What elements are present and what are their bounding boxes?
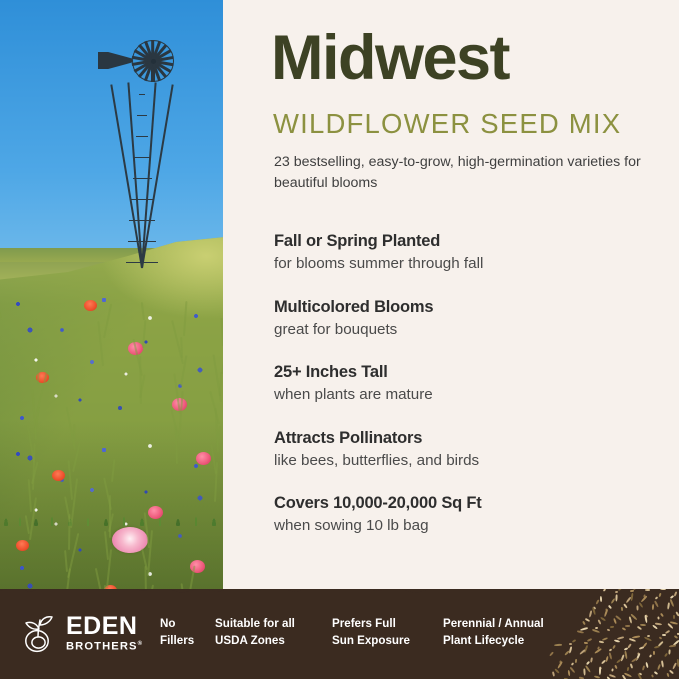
seed	[641, 595, 648, 602]
windmill-rung	[137, 115, 146, 116]
seed	[668, 649, 670, 654]
seed	[611, 668, 613, 671]
windmill-rotor	[130, 38, 176, 84]
seed	[657, 664, 661, 670]
brand-logo[interactable]: EDEN BROTHERS®	[23, 613, 143, 653]
seed	[601, 660, 606, 665]
seed	[554, 644, 562, 647]
seed	[615, 594, 617, 601]
feature-title: Fall or Spring Planted	[274, 230, 664, 252]
seed	[645, 589, 650, 591]
seed	[587, 638, 592, 642]
seed	[639, 602, 644, 608]
seed	[577, 630, 584, 634]
seed	[594, 648, 602, 654]
seed	[674, 635, 678, 639]
feature-subtitle: when sowing 10 lb bag	[274, 515, 664, 536]
page-title: Midwest	[271, 27, 509, 90]
brand-wordmark: EDEN BROTHERS®	[66, 614, 143, 653]
seed	[586, 661, 590, 665]
poppy-flower	[16, 540, 29, 551]
seed	[630, 663, 634, 668]
seed	[669, 644, 676, 647]
seed	[568, 670, 571, 676]
seed	[654, 671, 658, 675]
windmill-rung	[128, 241, 157, 242]
poppy-flower	[196, 452, 211, 465]
seed	[672, 662, 677, 669]
feature-title: Multicolored Blooms	[274, 296, 664, 318]
windmill-rung	[131, 199, 153, 200]
seed	[637, 626, 642, 630]
seed	[608, 605, 612, 609]
seed	[594, 675, 600, 678]
seed	[623, 603, 628, 608]
seed	[667, 602, 670, 609]
seed	[670, 595, 674, 599]
seed	[629, 616, 633, 623]
poppy-flower	[84, 300, 97, 311]
seed	[598, 619, 602, 624]
seed	[651, 674, 654, 678]
seed	[624, 651, 627, 659]
product-photo	[0, 0, 223, 612]
feature-item: Covers 10,000-20,000 Sq Ftwhen sowing 10…	[274, 492, 664, 537]
footer-badge-line1: Suitable for all	[215, 616, 295, 633]
seed	[600, 596, 602, 602]
seed	[627, 667, 630, 671]
seed	[592, 629, 600, 633]
footer-badge: Suitable for allUSDA Zones	[215, 616, 295, 650]
seed	[640, 624, 646, 626]
feature-item: Multicolored Bloomsgreat for bouquets	[274, 296, 664, 341]
product-description: 23 bestselling, easy-to-grow, high-germi…	[274, 152, 644, 195]
windmill-icon	[100, 38, 184, 268]
seed	[569, 643, 572, 645]
seed	[572, 639, 576, 643]
seed	[675, 611, 679, 616]
seed	[610, 626, 614, 628]
seed	[621, 607, 623, 611]
seed	[655, 596, 659, 599]
footer-badge-line1: Perennial / Annual	[443, 616, 544, 633]
seed	[614, 639, 620, 642]
footer-badge: Perennial / AnnualPlant Lifecycle	[443, 616, 544, 650]
seed	[564, 650, 570, 656]
seed	[661, 660, 664, 667]
seed	[557, 661, 563, 669]
brand-subname: BROTHERS®	[66, 641, 143, 653]
windmill-rung	[126, 262, 158, 263]
seed	[615, 615, 622, 621]
poppy-flower	[52, 470, 65, 481]
seed	[654, 600, 659, 607]
seed	[655, 623, 662, 626]
seed	[595, 599, 599, 604]
poppy-flower	[148, 506, 163, 519]
seed	[645, 662, 648, 668]
seed	[614, 665, 618, 669]
footer-badge-line2: Fillers	[160, 633, 194, 650]
seed	[652, 624, 658, 629]
seed	[575, 659, 577, 663]
seed	[589, 610, 593, 617]
seed	[660, 613, 664, 617]
seed	[658, 593, 661, 597]
seed	[609, 652, 613, 659]
seed	[657, 616, 659, 619]
seed	[571, 662, 574, 666]
seed	[609, 648, 613, 651]
windmill-rung	[136, 136, 149, 137]
windmill-rung	[139, 94, 145, 95]
seed	[652, 604, 654, 610]
seed	[670, 599, 675, 607]
footer-badge: Prefers FullSun Exposure	[332, 616, 410, 650]
seed	[653, 651, 655, 655]
seed	[649, 654, 652, 658]
seed	[664, 653, 668, 657]
seed	[611, 598, 616, 604]
seed	[636, 605, 638, 610]
footer-badge-line1: Prefers Full	[332, 616, 410, 633]
feature-item: Fall or Spring Plantedfor blooms summer …	[274, 230, 664, 275]
seed	[662, 634, 666, 636]
seed	[622, 627, 626, 631]
footer-badge-line1: No	[160, 616, 194, 633]
feature-subtitle: for blooms summer through fall	[274, 253, 664, 274]
seed	[654, 645, 660, 648]
brand-name: EDEN	[66, 614, 143, 639]
windmill-rung	[133, 178, 152, 179]
windmill-tower	[100, 80, 184, 268]
seed	[642, 665, 645, 670]
feature-list: Fall or Spring Plantedfor blooms summer …	[274, 230, 664, 558]
windmill-rung	[129, 220, 155, 221]
seed	[673, 615, 675, 619]
seed	[603, 589, 606, 592]
footer-bar: EDEN BROTHERS® NoFillersSuitable for all…	[0, 589, 679, 679]
seed	[644, 636, 652, 641]
windmill-tail-vane	[98, 52, 132, 69]
seed	[629, 638, 636, 642]
feature-item: 25+ Inches Tallwhen plants are mature	[274, 361, 664, 406]
seed	[607, 628, 611, 631]
trademark-symbol: ®	[138, 641, 144, 647]
seed	[569, 667, 575, 674]
footer-badge: NoFillers	[160, 616, 194, 650]
brand-subname-text: BROTHERS	[66, 640, 138, 652]
seed	[625, 625, 630, 627]
feature-subtitle: great for bouquets	[274, 319, 664, 340]
feature-item: Attracts Pollinatorslike bees, butterfli…	[274, 427, 664, 472]
seed	[612, 645, 616, 649]
seed	[639, 646, 644, 650]
seed	[599, 667, 601, 675]
seed	[659, 636, 663, 639]
seed	[669, 670, 674, 675]
product-label-card: Midwest WILDFLOWER SEED MIX 23 bestselli…	[0, 0, 679, 679]
seed	[585, 618, 590, 622]
seed	[618, 589, 622, 591]
seed	[599, 641, 604, 644]
seed	[585, 665, 591, 673]
seed	[609, 674, 616, 678]
seed	[615, 591, 618, 594]
feature-title: Covers 10,000-20,000 Sq Ft	[274, 492, 664, 514]
windmill-rung	[134, 157, 150, 158]
seed	[554, 668, 560, 674]
content-panel: Midwest WILDFLOWER SEED MIX 23 bestselli…	[223, 0, 679, 612]
seed	[666, 673, 669, 677]
footer-badge-line2: USDA Zones	[215, 633, 295, 650]
windmill-hub	[151, 59, 156, 64]
product-subtitle: WILDFLOWER SEED MIX	[273, 110, 621, 138]
footer-badge-line2: Sun Exposure	[332, 633, 410, 650]
seed	[600, 617, 606, 622]
feature-title: Attracts Pollinators	[274, 427, 664, 449]
seed	[630, 590, 634, 592]
seed	[590, 657, 593, 662]
feature-subtitle: when plants are mature	[274, 384, 664, 405]
seed	[605, 656, 608, 662]
feature-title: 25+ Inches Tall	[274, 361, 664, 383]
seed	[582, 621, 586, 625]
seed	[584, 642, 588, 644]
grass-blade	[73, 424, 75, 444]
seed	[583, 668, 585, 675]
feature-subtitle: like bees, butterflies, and birds	[274, 450, 664, 471]
seed	[549, 651, 554, 656]
sprout-seed-icon	[23, 613, 57, 653]
seed	[552, 671, 555, 676]
seed	[613, 618, 617, 624]
seed	[604, 609, 608, 617]
footer-badge-line2: Plant Lifecycle	[443, 633, 544, 650]
seed-pile-image	[549, 589, 679, 679]
seed	[660, 589, 666, 590]
